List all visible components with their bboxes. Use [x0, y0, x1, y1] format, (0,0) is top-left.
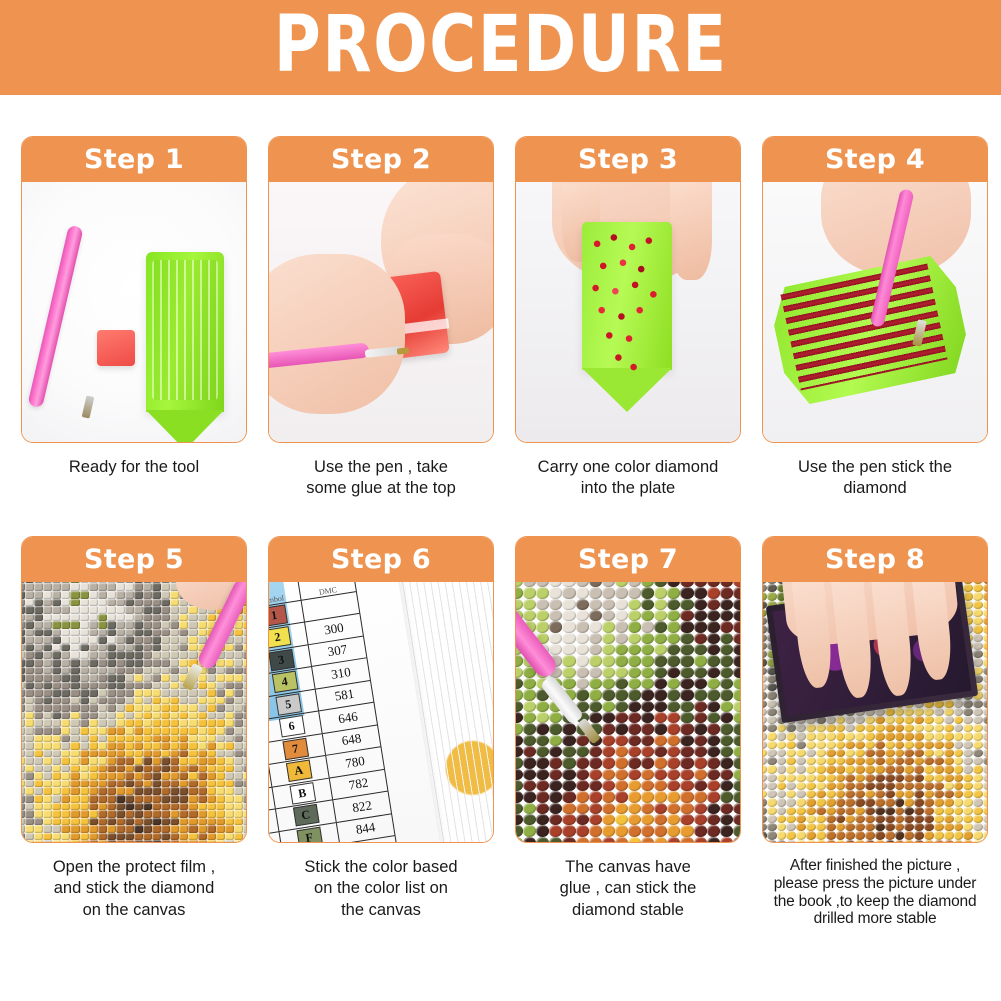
- mosaic-bead: [816, 749, 826, 757]
- step-cell-6: Step 6 No.12345678Symbol1234567ABCFMDMC3…: [268, 536, 494, 928]
- mosaic-bead: [225, 712, 234, 720]
- mosaic-bead: [904, 741, 914, 749]
- mosaic-bead: [628, 746, 641, 757]
- mosaic-bead: [885, 815, 895, 823]
- mosaic-bead: [602, 746, 615, 757]
- mosaic-bead: [680, 599, 693, 610]
- mosaic-bead: [34, 644, 43, 652]
- mosaic-bead: [107, 659, 116, 667]
- mosaic-bead: [152, 591, 161, 599]
- mosaic-bead: [34, 704, 43, 712]
- mosaic-bead: [152, 833, 161, 841]
- mosaic-bead: [25, 667, 34, 675]
- mosaic-bead: [654, 621, 667, 632]
- mosaic-bead: [152, 651, 161, 659]
- mosaic-bead: [207, 787, 216, 795]
- mosaic-bead: [225, 765, 234, 773]
- mosaic-bead: [654, 678, 667, 689]
- mosaic-bead: [694, 678, 707, 689]
- mosaic-bead: [944, 815, 954, 823]
- mosaic-bead: [170, 742, 179, 750]
- mosaic-bead: [904, 716, 914, 724]
- mosaic-bead: [216, 765, 225, 773]
- mosaic-bead: [107, 742, 116, 750]
- mosaic-bead: [641, 746, 654, 757]
- mosaic-bead: [602, 633, 615, 644]
- mosaic-bead: [855, 815, 865, 823]
- mosaic-bead: [89, 599, 98, 607]
- mosaic-bead: [983, 642, 987, 650]
- mosaic-bead: [207, 765, 216, 773]
- step-card-2[interactable]: Step 2: [268, 136, 494, 443]
- mosaic-bead: [680, 757, 693, 768]
- mosaic-bead: [641, 621, 654, 632]
- mosaic-bead: [61, 659, 70, 667]
- mosaic-bead: [170, 787, 179, 795]
- mosaic-bead: [207, 682, 216, 690]
- mosaic-bead: [589, 825, 602, 836]
- mosaic-bead: [107, 583, 116, 591]
- mosaic-bead: [52, 614, 61, 622]
- mosaic-bead: [885, 790, 895, 798]
- mosaic-bead: [134, 810, 143, 818]
- mosaic-bead: [516, 825, 523, 836]
- mosaic-bead: [125, 765, 134, 773]
- mosaic-bead: [628, 723, 641, 734]
- mosaic-bead: [143, 795, 152, 803]
- mosaic-bead: [589, 610, 602, 621]
- mosaic-bead: [963, 757, 973, 765]
- mosaic-bead: [875, 741, 885, 749]
- mosaic-bead: [107, 825, 116, 833]
- mosaic-bead: [806, 765, 816, 773]
- mosaic-bead: [80, 644, 89, 652]
- mosaic-bead: [61, 735, 70, 743]
- mosaic-bead: [694, 769, 707, 780]
- mosaic-bead: [34, 636, 43, 644]
- mosaic-bead: [52, 606, 61, 614]
- mosaic-bead: [826, 724, 836, 732]
- mosaic-bead: [875, 790, 885, 798]
- step-cell-7: Step 7 The canvas have glue , can stick …: [515, 536, 741, 928]
- mosaic-bead: [733, 837, 740, 842]
- mosaic-bead: [720, 837, 733, 842]
- mosaic-bead: [963, 741, 973, 749]
- mosaic-bead: [654, 644, 667, 655]
- mosaic-bead: [885, 798, 895, 806]
- step-card-3[interactable]: Step 3: [515, 136, 741, 443]
- mosaic-bead: [161, 735, 170, 743]
- mosaic-bead: [707, 655, 720, 666]
- mosaic-bead: [161, 757, 170, 765]
- mosaic-bead: [134, 833, 143, 841]
- step-card-8[interactable]: Step 8: [762, 536, 988, 843]
- mosaic-bead: [225, 697, 234, 705]
- mosaic-bead: [98, 742, 107, 750]
- mosaic-bead: [25, 659, 34, 667]
- mosaic-bead: [973, 732, 983, 740]
- mosaic-bead: [523, 769, 536, 780]
- mosaic-bead: [80, 750, 89, 758]
- mosaic-bead: [34, 833, 43, 841]
- mosaic-bead: [855, 716, 865, 724]
- mosaic-bead: [243, 787, 246, 795]
- mosaic-bead: [654, 803, 667, 814]
- mosaic-bead: [865, 749, 875, 757]
- mosaic-bead: [826, 774, 836, 782]
- mosaic-bead: [944, 807, 954, 815]
- mosaic-bead: [152, 712, 161, 720]
- mosaic-bead: [52, 644, 61, 652]
- mosaic-bead: [170, 689, 179, 697]
- mosaic-bead: [549, 814, 562, 825]
- mosaic-bead: [875, 840, 885, 842]
- mosaic-bead: [243, 742, 246, 750]
- mosaic-bead: [207, 742, 216, 750]
- mosaic-bead: [179, 704, 188, 712]
- mosaic-bead: [767, 815, 777, 823]
- mosaic-bead: [52, 697, 61, 705]
- mosaic-bead: [107, 833, 116, 841]
- mosaic-bead: [602, 791, 615, 802]
- mosaic-bead: [116, 636, 125, 644]
- mosaic-bead: [816, 807, 826, 815]
- mosaic-bead: [914, 716, 924, 724]
- mosaic-bead: [198, 742, 207, 750]
- mosaic-bead: [89, 825, 98, 833]
- mosaic-bead: [707, 837, 720, 842]
- mosaic-bead: [954, 757, 964, 765]
- mosaic-bead: [694, 757, 707, 768]
- mosaic-bead: [125, 735, 134, 743]
- mosaic-bead: [134, 659, 143, 667]
- mosaic-bead: [61, 787, 70, 795]
- mosaic-bead: [43, 606, 52, 614]
- mosaic-bead: [61, 803, 70, 811]
- mosaic-bead: [654, 701, 667, 712]
- mosaic-bead: [720, 610, 733, 621]
- mosaic-bead: [707, 599, 720, 610]
- mosaic-bead: [98, 591, 107, 599]
- mosaic-bead: [234, 765, 243, 773]
- mosaic-bead: [707, 633, 720, 644]
- pressing-picture-under-book-photo: [763, 582, 987, 842]
- mosaic-bead: [549, 746, 562, 757]
- mosaic-bead: [161, 810, 170, 818]
- mosaic-bead: [826, 815, 836, 823]
- mosaic-bead: [43, 757, 52, 765]
- mosaic-bead: [973, 823, 983, 831]
- mosaic-bead: [134, 636, 143, 644]
- mosaic-bead: [179, 810, 188, 818]
- mosaic-bead: [963, 815, 973, 823]
- mosaic-bead: [80, 697, 89, 705]
- grid-row-gap: [21, 500, 988, 536]
- mosaic-bead: [934, 840, 944, 842]
- mosaic-bead: [904, 782, 914, 790]
- mosaic-bead: [107, 644, 116, 652]
- mosaic-bead: [707, 644, 720, 655]
- mosaic-bead: [152, 606, 161, 614]
- mosaic-bead: [767, 831, 777, 839]
- mosaic-bead: [973, 584, 983, 592]
- mosaic-bead: [836, 782, 846, 790]
- mosaic-bead: [61, 765, 70, 773]
- mosaic-bead: [895, 831, 905, 839]
- mosaic-bead: [188, 621, 197, 629]
- mosaic-bead: [895, 840, 905, 842]
- mosaic-bead: [125, 667, 134, 675]
- mosaic-bead: [680, 644, 693, 655]
- mosaic-bead: [562, 723, 575, 734]
- mosaic-bead: [786, 807, 796, 815]
- mosaic-bead: [733, 780, 740, 791]
- mosaic-bead: [826, 782, 836, 790]
- mosaic-bead: [43, 583, 52, 591]
- mosaic-bead: [885, 708, 895, 716]
- mosaic-bead: [207, 735, 216, 743]
- mosaic-bead: [767, 757, 777, 765]
- mosaic-bead: [963, 782, 973, 790]
- mosaic-bead: [25, 735, 34, 743]
- mosaic-bead: [694, 791, 707, 802]
- mosaic-bead: [34, 810, 43, 818]
- mosaic-bead: [826, 831, 836, 839]
- mosaic-bead: [207, 833, 216, 841]
- mosaic-bead: [680, 780, 693, 791]
- mosaic-bead: [944, 840, 954, 842]
- mosaic-bead: [536, 780, 549, 791]
- mosaic-bead: [198, 818, 207, 826]
- mosaic-bead: [170, 599, 179, 607]
- mosaic-bead: [895, 782, 905, 790]
- mosaic-bead: [143, 719, 152, 727]
- mosaic-bead: [61, 591, 70, 599]
- mosaic-bead: [654, 735, 667, 746]
- mosaic-bead: [904, 840, 914, 842]
- mosaic-bead: [963, 724, 973, 732]
- mosaic-bead: [234, 704, 243, 712]
- mosaic-bead: [116, 606, 125, 614]
- step-caption-5: Open the protect film , and stick the di…: [21, 857, 247, 921]
- step-card-7[interactable]: Step 7: [515, 536, 741, 843]
- mosaic-bead: [904, 774, 914, 782]
- mosaic-bead: [549, 633, 562, 644]
- mosaic-bead: [983, 741, 987, 749]
- mosaic-bead: [52, 674, 61, 682]
- mosaic-bead: [161, 599, 170, 607]
- mosaic-bead: [116, 742, 125, 750]
- mosaic-bead: [188, 780, 197, 788]
- step-card-4[interactable]: Step 4: [762, 136, 988, 443]
- mosaic-bead: [61, 629, 70, 637]
- mosaic-bead: [983, 724, 987, 732]
- mosaic-bead: [536, 723, 549, 734]
- mosaic-bead: [641, 769, 654, 780]
- step-card-1[interactable]: Step 1: [21, 136, 247, 443]
- mosaic-bead: [125, 772, 134, 780]
- mosaic-bead: [914, 749, 924, 757]
- mosaic-bead: [963, 807, 973, 815]
- mosaic-bead: [536, 746, 549, 757]
- mosaic-bead: [80, 712, 89, 720]
- mosaic-bead: [680, 587, 693, 598]
- mosaic-bead: [845, 831, 855, 839]
- mosaic-bead: [733, 803, 740, 814]
- mosaic-bead: [143, 591, 152, 599]
- mosaic-bead: [885, 757, 895, 765]
- mosaic-bead: [720, 712, 733, 723]
- mosaic-bead: [234, 772, 243, 780]
- mosaic-bead: [641, 587, 654, 598]
- mosaic-bead: [125, 757, 134, 765]
- mosaic-bead: [733, 746, 740, 757]
- mosaic-bead: [875, 716, 885, 724]
- mosaic-bead: [98, 787, 107, 795]
- mosaic-bead: [179, 712, 188, 720]
- mosaic-bead: [234, 833, 243, 841]
- mosaic-bead: [562, 780, 575, 791]
- mosaic-bead: [855, 831, 865, 839]
- canvas-glue-closeup-photo: [516, 582, 740, 842]
- mosaic-bead: [125, 840, 134, 842]
- mosaic-bead: [188, 787, 197, 795]
- mosaic-bead: [143, 735, 152, 743]
- mosaic-bead: [80, 757, 89, 765]
- mosaic-bead: [179, 606, 188, 614]
- mosaic-bead: [680, 667, 693, 678]
- mosaic-bead: [152, 735, 161, 743]
- mosaic-bead: [589, 587, 602, 598]
- mosaic-bead: [904, 798, 914, 806]
- mosaic-bead: [52, 780, 61, 788]
- mosaic-bead: [836, 732, 846, 740]
- mosaic-bead: [116, 795, 125, 803]
- mosaic-bead: [152, 825, 161, 833]
- mosaic-bead: [161, 629, 170, 637]
- mosaic-bead: [615, 780, 628, 791]
- mosaic-bead: [43, 825, 52, 833]
- step-caption-4: Use the pen stick the diamond: [762, 457, 988, 500]
- mosaic-bead: [806, 840, 816, 842]
- mosaic-bead: [615, 814, 628, 825]
- mosaic-bead: [602, 689, 615, 700]
- mosaic-bead: [134, 818, 143, 826]
- mosaic-bead: [107, 818, 116, 826]
- mosaic-bead: [733, 610, 740, 621]
- mosaic-bead: [61, 795, 70, 803]
- mosaic-bead: [89, 780, 98, 788]
- mosaic-bead: [983, 807, 987, 815]
- mosaic-bead: [777, 798, 787, 806]
- step-caption-1: Ready for the tool: [21, 457, 247, 478]
- mosaic-bead: [628, 655, 641, 666]
- mosaic-bead: [152, 629, 161, 637]
- mosaic-bead: [70, 818, 79, 826]
- mosaic-bead: [116, 757, 125, 765]
- mosaic-bead: [602, 712, 615, 723]
- mosaic-bead: [43, 765, 52, 773]
- mosaic-bead: [885, 724, 895, 732]
- mosaic-bead: [89, 583, 98, 591]
- step-header-4: Step 4: [763, 137, 987, 182]
- mosaic-bead: [125, 651, 134, 659]
- mosaic-bead: [628, 667, 641, 678]
- mosaic-bead: [70, 803, 79, 811]
- mosaic-bead: [523, 689, 536, 700]
- mosaic-bead: [875, 831, 885, 839]
- mosaic-bead: [826, 765, 836, 773]
- mosaic-bead: [944, 790, 954, 798]
- mosaic-bead: [924, 831, 934, 839]
- mosaic-bead: [188, 803, 197, 811]
- mosaic-bead: [125, 833, 134, 841]
- mosaic-bead: [170, 659, 179, 667]
- mosaic-bead: [641, 723, 654, 734]
- mosaic-bead: [179, 772, 188, 780]
- mosaic-bead: [161, 803, 170, 811]
- mosaic-bead: [143, 750, 152, 758]
- mosaic-bead: [134, 727, 143, 735]
- mosaic-bead: [680, 610, 693, 621]
- mosaic-bead: [243, 704, 246, 712]
- mosaic-bead: [954, 823, 964, 831]
- step-card-5[interactable]: Step 5: [21, 536, 247, 843]
- sunflower-mosaic-icon: [22, 582, 246, 842]
- mosaic-bead: [216, 697, 225, 705]
- color-swatch: 3: [269, 649, 294, 672]
- mosaic-bead: [654, 780, 667, 791]
- step-card-6[interactable]: Step 6 No.12345678Symbol1234567ABCFMDMC3…: [268, 536, 494, 843]
- mosaic-bead: [680, 769, 693, 780]
- mosaic-bead: [549, 757, 562, 768]
- mosaic-bead: [826, 840, 836, 842]
- mosaic-bead: [904, 732, 914, 740]
- mosaic-bead: [845, 790, 855, 798]
- mosaic-bead: [536, 712, 549, 723]
- mosaic-bead: [667, 678, 680, 689]
- mosaic-bead: [179, 629, 188, 637]
- mosaic-bead: [516, 837, 523, 842]
- mosaic-bead: [216, 735, 225, 743]
- step-cell-2: Step 2 Use the pen , take some glue at t…: [268, 136, 494, 500]
- mosaic-bead: [152, 757, 161, 765]
- mosaic-bead: [152, 674, 161, 682]
- mosaic-bead: [767, 765, 777, 773]
- color-swatch: 5: [275, 693, 302, 716]
- mosaic-bead: [179, 689, 188, 697]
- mosaic-bead: [52, 682, 61, 690]
- mosaic-bead: [641, 678, 654, 689]
- mosaic-bead: [70, 583, 79, 591]
- mosaic-bead: [243, 727, 246, 735]
- mosaic-bead: [641, 655, 654, 666]
- mosaic-bead: [628, 780, 641, 791]
- mosaic-bead: [562, 791, 575, 802]
- mosaic-bead: [924, 774, 934, 782]
- mosaic-bead: [61, 636, 70, 644]
- mosaic-bead: [98, 629, 107, 637]
- mosaic-bead: [125, 750, 134, 758]
- mosaic-bead: [845, 782, 855, 790]
- mosaic-bead: [107, 682, 116, 690]
- mosaic-bead: [694, 633, 707, 644]
- mosaic-bead: [602, 723, 615, 734]
- mosaic-bead: [536, 599, 549, 610]
- mosaic-bead: [615, 803, 628, 814]
- mosaic-bead: [796, 765, 806, 773]
- mosaic-bead: [34, 697, 43, 705]
